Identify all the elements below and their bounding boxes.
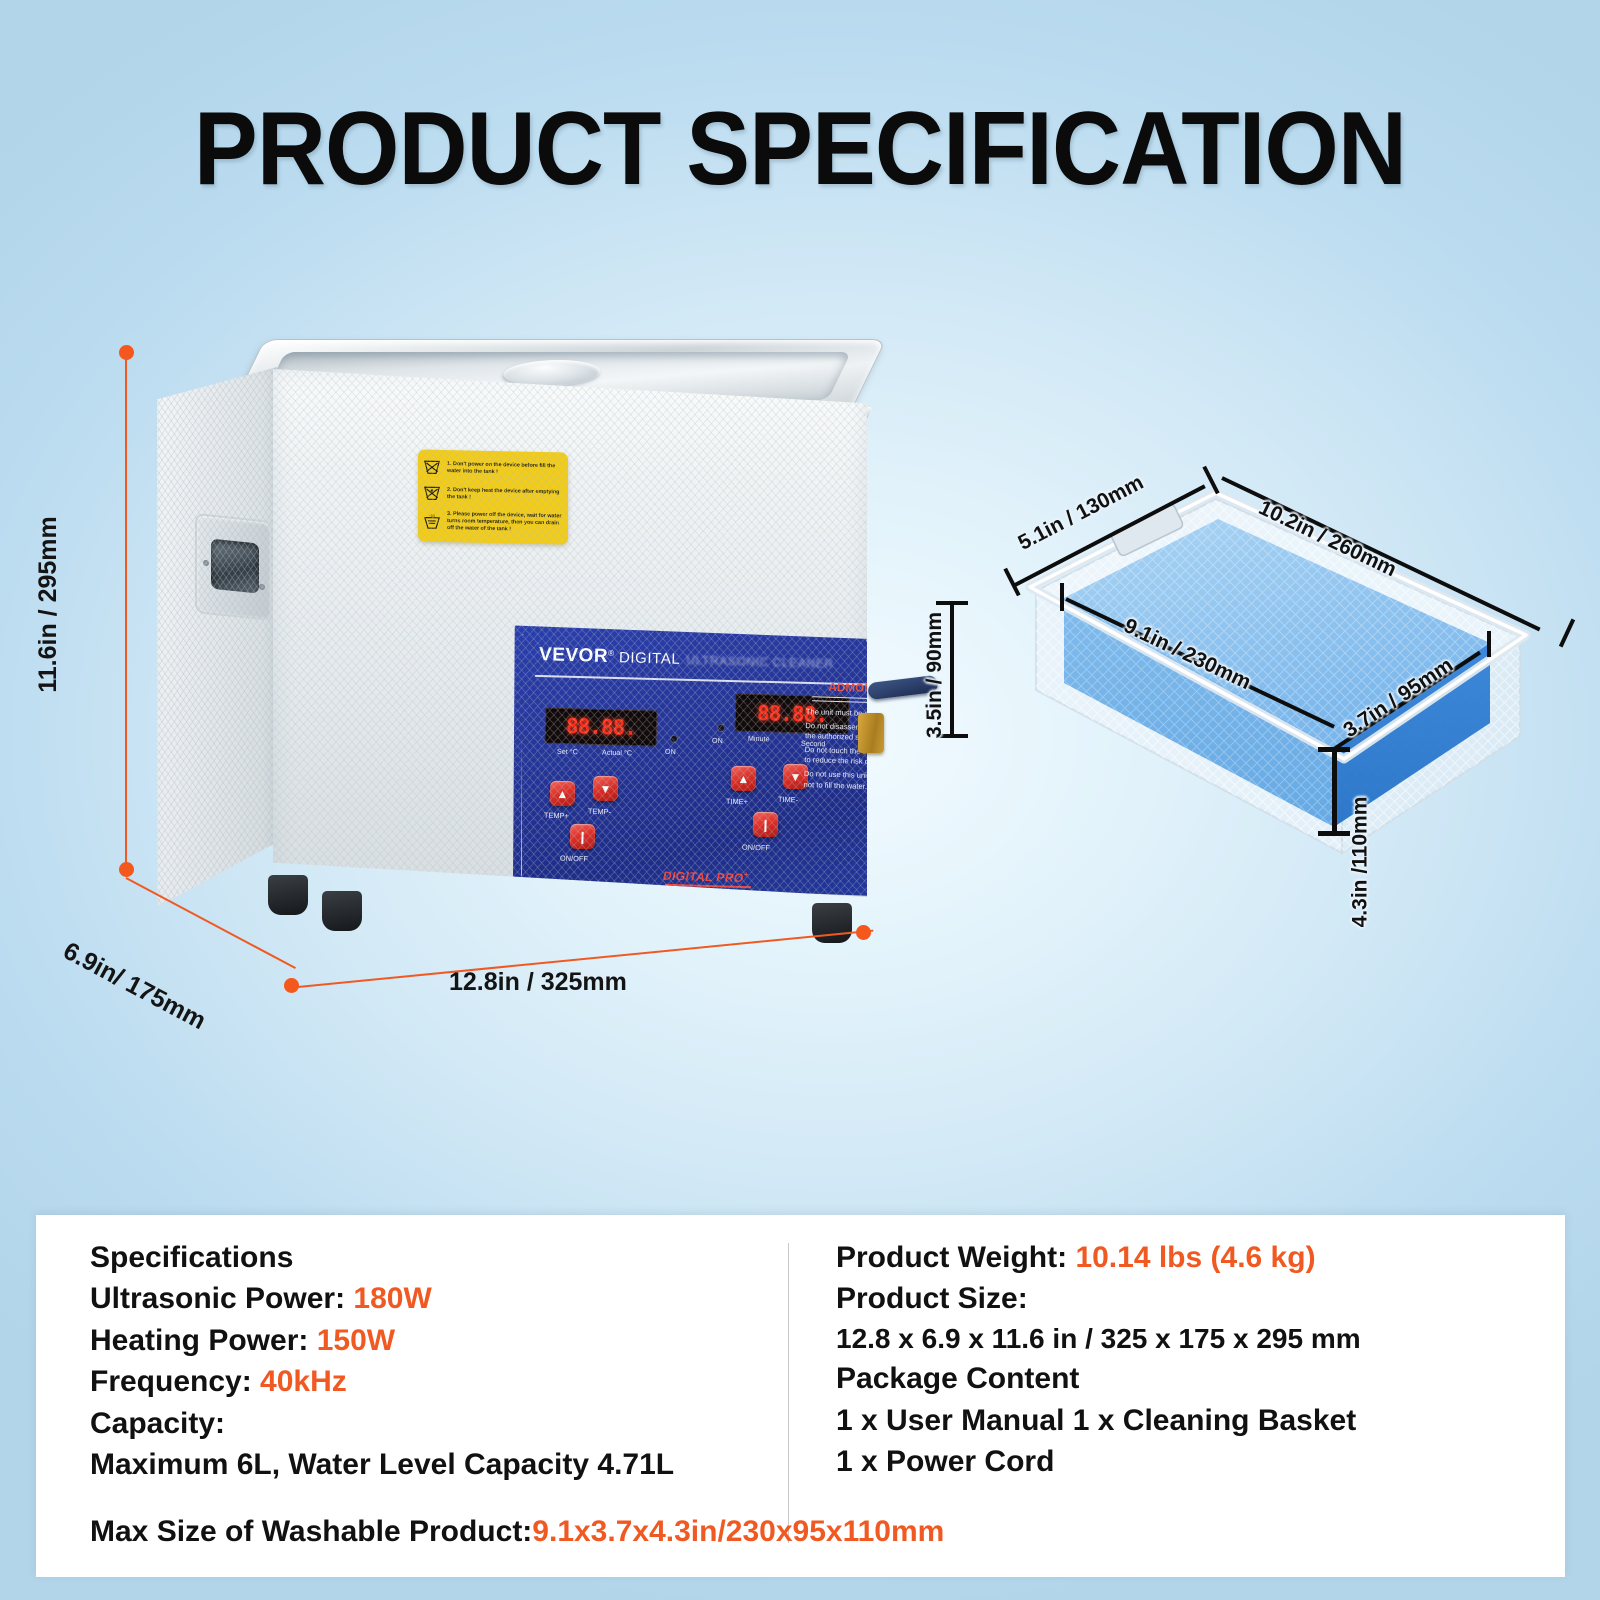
- spec-row-ultrasonic-power: Ultrasonic Power: 180W: [90, 1278, 780, 1319]
- spec-heading: Specifications: [90, 1237, 780, 1278]
- cleaning-basket-illustration: 5.1in / 130mm 10.2in / 260mm 3.5in / 90m…: [960, 455, 1580, 925]
- temp-on-label: ON: [665, 747, 676, 756]
- brand-product-label: ULTRASONIC CLEANER: [686, 653, 834, 671]
- temp-onoff-button[interactable]: ❙: [570, 824, 596, 850]
- drain-valve-body: [858, 713, 884, 753]
- dim-endpoint-dot: [284, 978, 299, 993]
- product-specification-page: PRODUCT SPECIFICATION 1. Don't power: [0, 0, 1600, 1600]
- height-dimension-label: 11.6in / 295mm: [34, 516, 63, 693]
- caution-row: 2. Don't keep heat the device after empt…: [422, 485, 564, 504]
- temp-down-label: TEMP-: [588, 807, 611, 817]
- timer-display: 88.88.: [734, 693, 849, 734]
- minute-label: Minute: [748, 734, 770, 744]
- timer-value: 88.88.: [757, 703, 827, 726]
- time-onoff-button[interactable]: ❙: [753, 812, 779, 838]
- arrow-down-icon: ▼: [789, 770, 801, 782]
- spec-value: 150W: [317, 1324, 395, 1357]
- time-up-button[interactable]: ▲: [731, 766, 757, 792]
- spec-label: Frequency:: [90, 1365, 260, 1398]
- page-title: PRODUCT SPECIFICATION: [64, 90, 1536, 209]
- cleaner-side-panel: [157, 367, 277, 907]
- set-temp-label: Set °C: [557, 747, 578, 757]
- carry-handle: [195, 513, 273, 621]
- carry-handle-recess: [211, 539, 259, 594]
- spec-value: 9.1x3.7x4.3in/230x95x110mm: [532, 1515, 944, 1548]
- time-down-button[interactable]: ▼: [783, 764, 809, 790]
- basket-inner-height-dimension-label: 4.3in /110mm: [1348, 797, 1372, 928]
- ultrasonic-cleaner-illustration: 1. Don't power on the device before fill…: [140, 335, 900, 975]
- no-empty-tank-icon: [422, 459, 442, 475]
- spec-row-frequency: Frequency: 40kHz: [90, 1361, 780, 1402]
- admonition-item: Do not use this unit when the tank is no…: [803, 769, 936, 793]
- dim-endpoint-dot: [856, 925, 871, 940]
- temp-on-indicator-icon: [670, 735, 678, 743]
- spec-row-capacity-value: Maximum 6L, Water Level Capacity 4.71L: [90, 1444, 780, 1485]
- second-label: Second: [801, 739, 826, 749]
- brand-name: VEVOR: [539, 644, 609, 667]
- basket-inner-height-dimension-line: [1332, 749, 1337, 835]
- package-items-line-2: 1 x Power Cord: [836, 1441, 1546, 1482]
- spec-row-product-weight: Product Weight: 10.14 lbs (4.6 kg): [836, 1237, 1546, 1278]
- temp-down-button[interactable]: ▼: [593, 776, 619, 802]
- temperature-value: 88.88.: [566, 716, 636, 739]
- cleaner-foot: [322, 891, 362, 931]
- spec-value: 40kHz: [260, 1365, 347, 1398]
- no-caption: NO: [867, 631, 878, 638]
- height-dimension-line: [125, 352, 127, 865]
- spec-label: Ultrasonic Power:: [90, 1282, 353, 1315]
- digital-pro-sup: +: [744, 870, 749, 879]
- temperature-display: 88.88.: [545, 707, 658, 746]
- spec-left-column: Specifications Ultrasonic Power: 180W He…: [90, 1237, 780, 1485]
- time-down-label: TIME-: [778, 795, 798, 805]
- time-onoff-label: ON/OFF: [742, 843, 770, 853]
- spec-column-divider: [788, 1243, 789, 1543]
- width-dimension-label: 12.8in / 325mm: [449, 968, 627, 997]
- basket-outer-height-dimension-line: [950, 603, 954, 738]
- timer-on-label: ON: [712, 736, 723, 745]
- actual-temp-label: Actual °C: [602, 748, 632, 758]
- spec-value: 180W: [353, 1282, 431, 1315]
- digital-pro-underline: [665, 884, 751, 888]
- caution-row: ~2/3 3. Please power off the device, wai…: [422, 511, 564, 535]
- temp-up-button[interactable]: ▲: [550, 781, 576, 807]
- spec-label: Heating Power:: [90, 1324, 317, 1357]
- no-heat-icon: [422, 485, 442, 501]
- dim-cap: [1318, 747, 1350, 752]
- arrow-down-icon: ▼: [599, 782, 611, 794]
- caution-text: 1. Don't power on the device before fill…: [447, 461, 564, 477]
- spec-row-product-size-label: Product Size:: [836, 1278, 1546, 1319]
- spec-value: 10.14 lbs (4.6 kg): [1075, 1241, 1315, 1274]
- spec-row-product-size-value: 12.8 x 6.9 x 11.6 in / 325 x 175 x 295 m…: [836, 1320, 1546, 1359]
- digital-pro-text: DIGITAL PRO: [663, 869, 744, 885]
- caution-text: 3. Please power off the device, wait for…: [447, 511, 564, 534]
- ok-caption: OK: [907, 632, 918, 639]
- spec-row-capacity-label: Capacity:: [90, 1403, 780, 1444]
- digital-pro-mark: DIGITAL PRO+: [663, 868, 749, 885]
- cleaner-foot: [268, 875, 308, 915]
- cleaner-front-panel: 1. Don't power on the device before fill…: [273, 369, 867, 897]
- svg-text:~2/3: ~2/3: [429, 514, 436, 518]
- power-icon: ❙: [577, 830, 587, 842]
- caution-text: 2. Don't keep heat the device after empt…: [447, 487, 564, 503]
- handle-screw-icon: [259, 584, 265, 591]
- arrow-up-icon: ▲: [556, 787, 568, 799]
- temp-onoff-label: ON/OFF: [560, 854, 588, 864]
- arrow-up-icon: ▲: [737, 772, 749, 784]
- dim-cap: [1487, 631, 1491, 657]
- spec-row-max-washable-size: Max Size of Washable Product:9.1x3.7x4.3…: [90, 1515, 944, 1549]
- panel-border: [521, 630, 945, 890]
- temp-up-label: TEMP+: [544, 811, 569, 821]
- registered-mark: ®: [608, 649, 614, 658]
- spec-label: Product Weight:: [836, 1241, 1075, 1274]
- control-panel: VEVOR®DIGITALULTRASONIC CLEANER NO OK 88: [513, 621, 953, 899]
- basket-outer-height-dimension-label: 3.5in / 90mm: [923, 612, 947, 738]
- caution-sticker: 1. Don't power on the device before fill…: [418, 449, 568, 544]
- drain-water-icon: ~2/3: [422, 513, 442, 529]
- timer-on-indicator-icon: [717, 724, 725, 732]
- dim-cap: [1060, 583, 1064, 611]
- brand-lockup: VEVOR®DIGITALULTRASONIC CLEANER: [539, 644, 834, 674]
- specifications-panel: Specifications Ultrasonic Power: 180W He…: [36, 1215, 1565, 1577]
- spec-row-heating-power: Heating Power: 150W: [90, 1320, 780, 1361]
- brand-digital-label: DIGITAL: [619, 649, 681, 668]
- no-tank-icon: NO: [863, 632, 894, 661]
- panel-divider: [535, 675, 927, 687]
- caution-row: 1. Don't power on the device before fill…: [422, 459, 564, 478]
- dim-cap: [936, 601, 968, 605]
- handle-screw-icon: [203, 560, 209, 567]
- dim-cap: [1318, 831, 1350, 836]
- spec-right-column: Product Weight: 10.14 lbs (4.6 kg) Produ…: [836, 1237, 1546, 1483]
- package-items-line-1: 1 x User Manual 1 x Cleaning Basket: [836, 1400, 1546, 1441]
- spec-row-package-label: Package Content: [836, 1358, 1546, 1399]
- power-icon: ❙: [760, 818, 770, 830]
- spec-label: Max Size of Washable Product:: [90, 1515, 532, 1548]
- time-up-label: TIME+: [726, 797, 748, 807]
